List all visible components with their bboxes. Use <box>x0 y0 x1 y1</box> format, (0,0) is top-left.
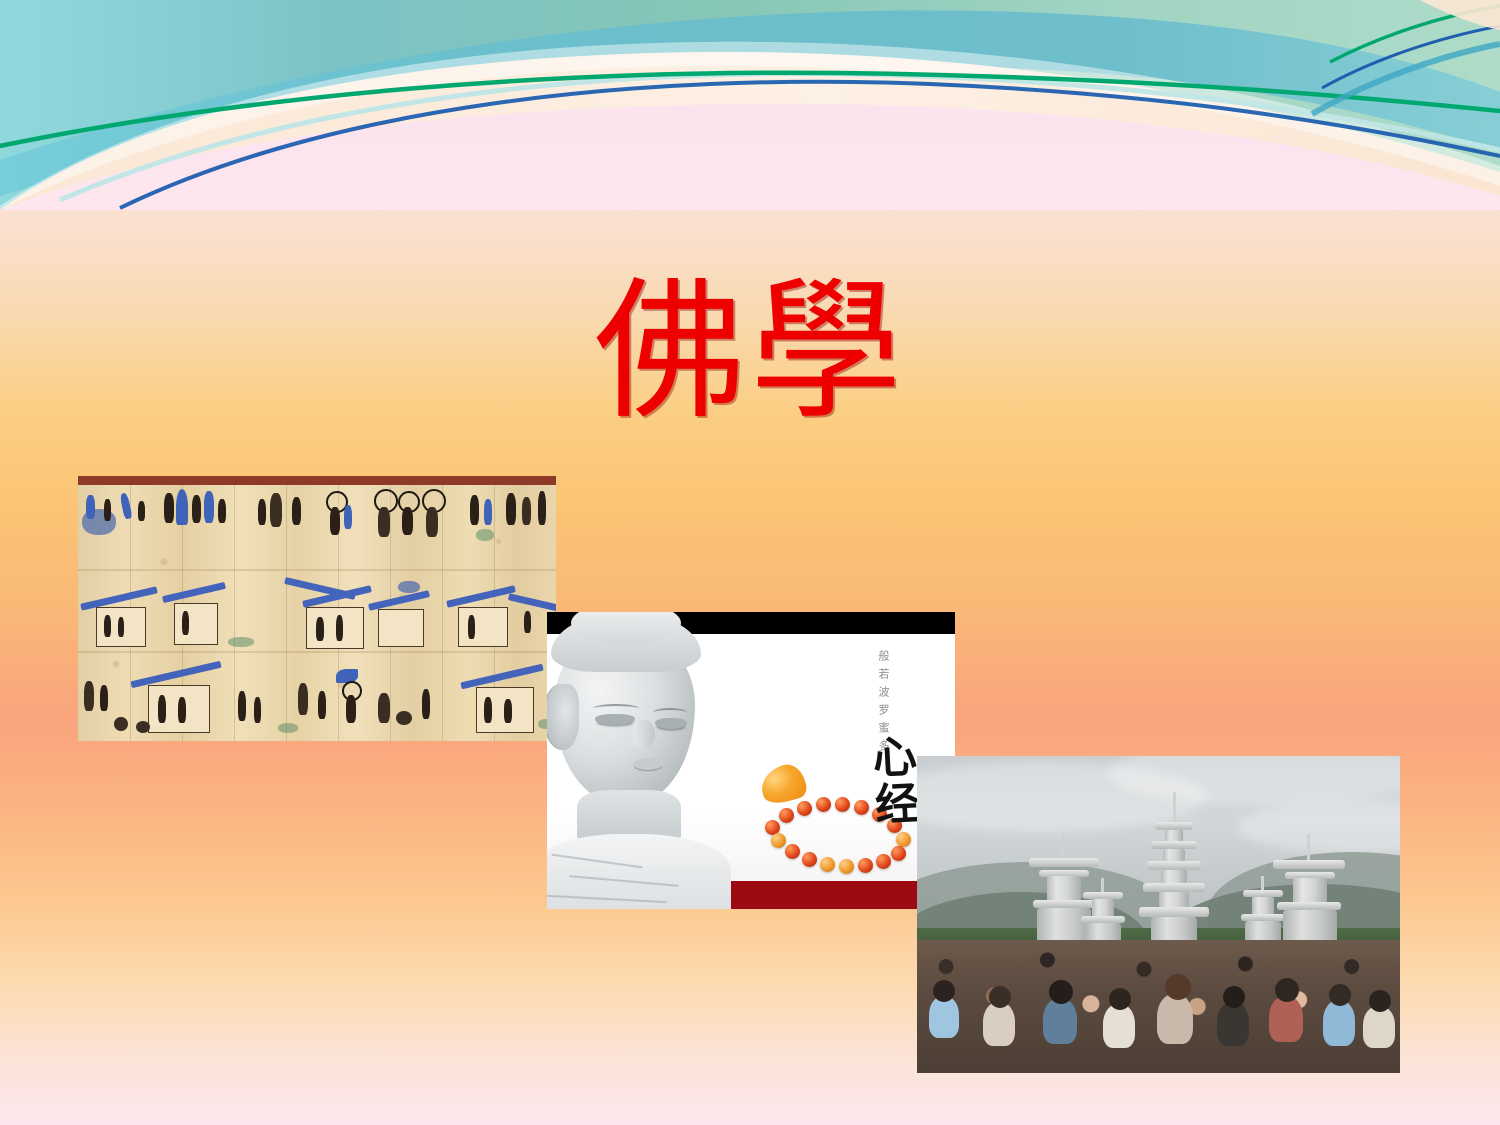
image-stone-pagodas-crowd <box>917 756 1400 1073</box>
slide-title: 佛學 <box>0 272 1500 432</box>
guanyin-statue <box>547 612 741 909</box>
scroll-canvas <box>78 485 556 741</box>
image-dunhuang-sutra-scroll <box>78 476 556 741</box>
heartsutra-title-calligraphy: 心经 <box>857 732 926 829</box>
presentation-slide: 佛學 <box>0 0 1500 1125</box>
flow-swoosh-banner <box>0 0 1500 210</box>
pagoda-center <box>1139 792 1209 964</box>
image-heart-sutra-guanyin: 般若波罗蜜多 心经 <box>547 612 955 909</box>
pilgrim-crowd <box>917 940 1400 1073</box>
